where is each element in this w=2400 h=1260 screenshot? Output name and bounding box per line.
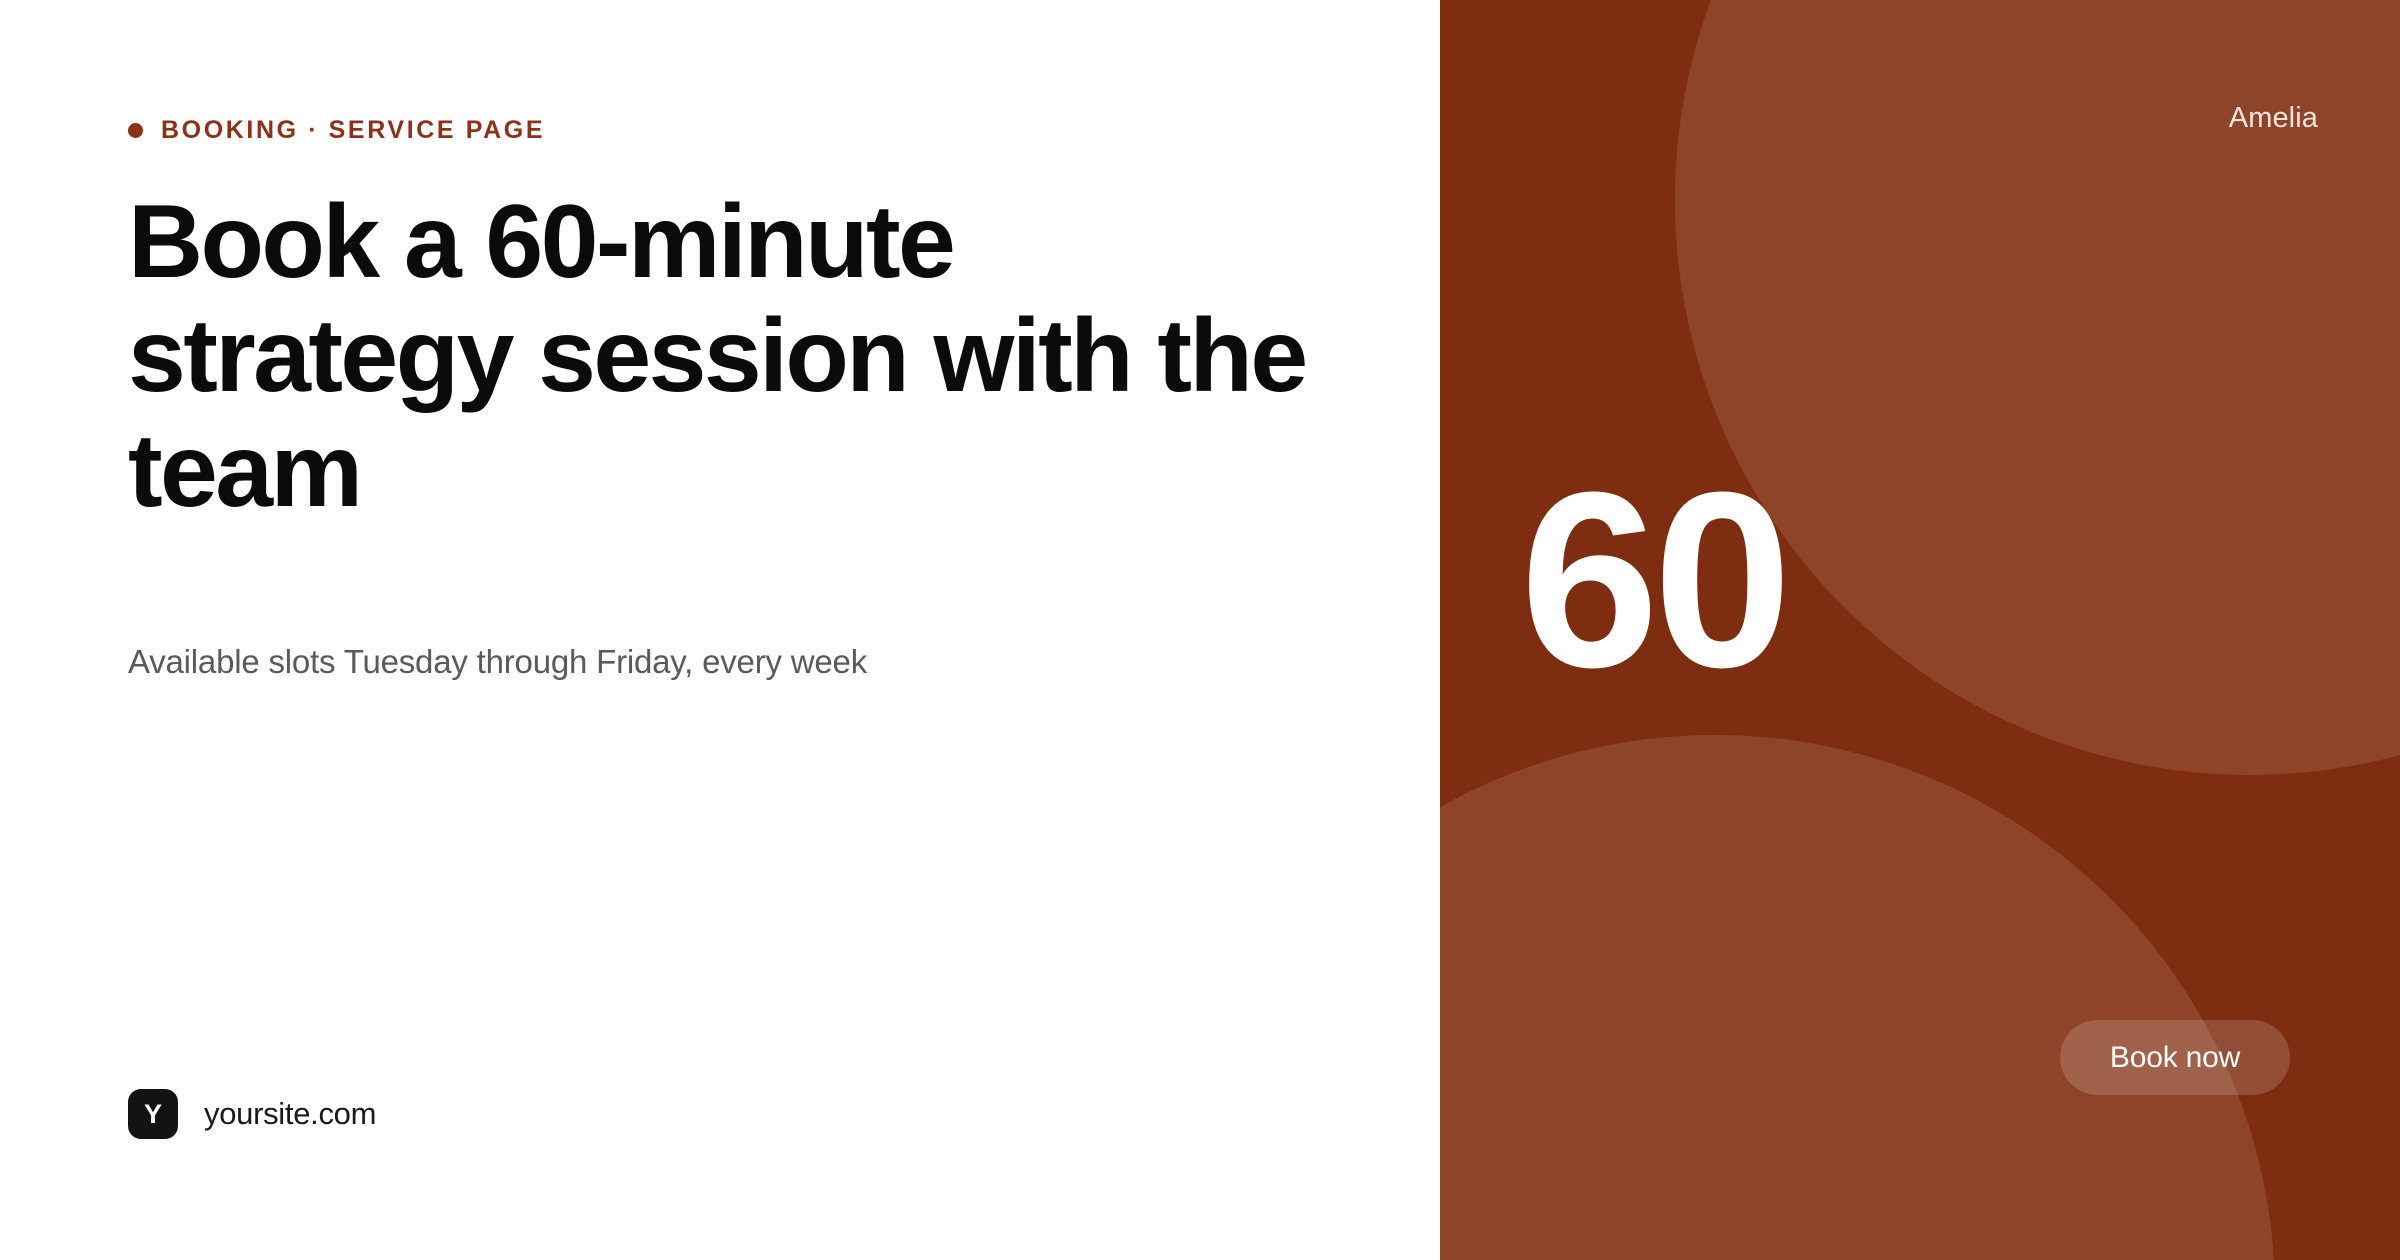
footer-brand: Y yoursite.com bbox=[128, 1086, 376, 1142]
duration-number: 60 bbox=[1520, 455, 1786, 705]
eyebrow: BOOKING · SERVICE PAGE bbox=[128, 114, 545, 146]
site-url-label: yoursite.com bbox=[204, 1096, 376, 1132]
bullet-dot-icon bbox=[128, 123, 143, 138]
bottom-left-circle-decoration bbox=[1440, 735, 2275, 1260]
page-subtitle: Available slots Tuesday through Friday, … bbox=[128, 640, 1328, 685]
book-now-button[interactable]: Book now bbox=[2060, 1020, 2290, 1095]
promo-card: BOOKING · SERVICE PAGE Book a 60-minute … bbox=[0, 0, 2400, 1260]
brand-logo-icon: Y bbox=[128, 1089, 178, 1139]
panel-name-label: Amelia bbox=[2229, 104, 2318, 133]
page-title: Book a 60-minute strategy session with t… bbox=[128, 185, 1308, 528]
left-content-pane: BOOKING · SERVICE PAGE Book a 60-minute … bbox=[0, 0, 1440, 1260]
eyebrow-label: BOOKING · SERVICE PAGE bbox=[161, 118, 545, 143]
visual-panel: Amelia 60 Book now bbox=[1440, 0, 2400, 1260]
